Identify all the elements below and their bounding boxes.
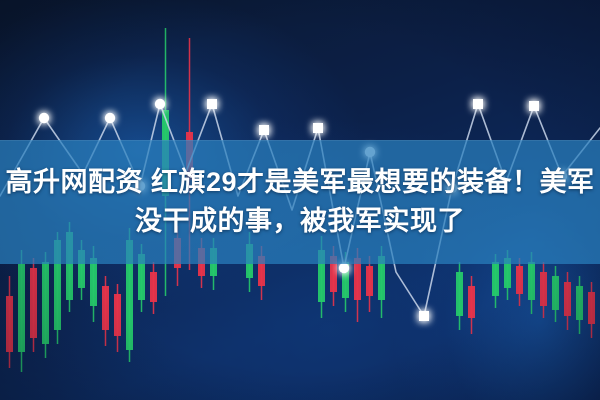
headline-line-1: 高升网配资 红旗29才是美军最想要的装备！美军 xyxy=(5,166,594,199)
headline-block: 高升网配资 红旗29才是美军最想要的装备！美军 没干成的事，被我军实现了 xyxy=(0,140,600,264)
banner-image: 高升网配资 红旗29才是美军最想要的装备！美军 没干成的事，被我军实现了 xyxy=(0,0,600,400)
headline-line-2: 没干成的事，被我军实现了 xyxy=(135,205,465,238)
